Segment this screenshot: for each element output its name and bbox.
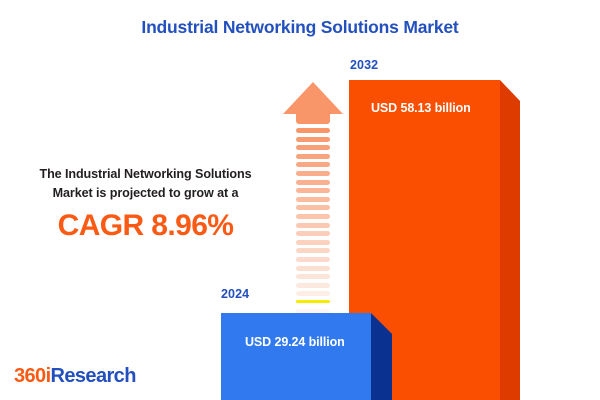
caption-line-1: The Industrial Networking Solutions [8, 165, 283, 184]
growth-arrow-icon [283, 82, 343, 290]
infographic-canvas: Industrial Networking Solutions Market 2… [0, 0, 600, 400]
arrow-rung [296, 214, 330, 219]
caption-line-2: Market is projected to grow at a [8, 184, 283, 203]
caption-block: The Industrial Networking Solutions Mark… [8, 165, 283, 243]
arrow-neck [296, 113, 330, 124]
arrow-rung [296, 223, 330, 228]
arrow-rung [296, 205, 330, 210]
arrow-rung [296, 274, 330, 279]
arrow-rung [296, 240, 330, 245]
arrow-head-icon [283, 82, 343, 114]
bar-2024-value-label: USD 29.24 billion [245, 335, 345, 349]
arrow-rung [296, 162, 330, 167]
page-title: Industrial Networking Solutions Market [0, 17, 600, 38]
arrow-rung [296, 283, 330, 288]
arrow-rung [296, 128, 330, 133]
arrow-rung [296, 171, 330, 176]
logo-text-360: 360 [14, 365, 46, 387]
arrow-rung [296, 231, 330, 236]
arrow-rung [296, 188, 330, 193]
arrow-rung-highlight [296, 300, 330, 303]
arrow-rung [296, 291, 330, 296]
brand-logo: 360iResearch [14, 365, 136, 388]
arrow-rung [296, 137, 330, 142]
cagr-value: CAGR 8.96% [8, 209, 283, 243]
bar-2024: USD 29.24 billion [221, 313, 392, 400]
arrow-rung [296, 266, 330, 271]
year-label-2032: 2032 [350, 58, 378, 72]
arrow-rung [296, 145, 330, 150]
arrow-rung [296, 197, 330, 202]
arrow-rung [296, 257, 330, 262]
bar-2024-side-face [371, 313, 392, 400]
bar-2032-side-face [500, 80, 520, 400]
bar-2024-front-face: USD 29.24 billion [221, 313, 371, 400]
arrow-rung [296, 180, 330, 185]
arrow-rung [296, 248, 330, 253]
year-label-2024: 2024 [221, 287, 249, 301]
arrow-rung [296, 154, 330, 159]
bar-2032-value-label: USD 58.13 billion [371, 101, 471, 115]
logo-text-research: Research [51, 365, 136, 387]
